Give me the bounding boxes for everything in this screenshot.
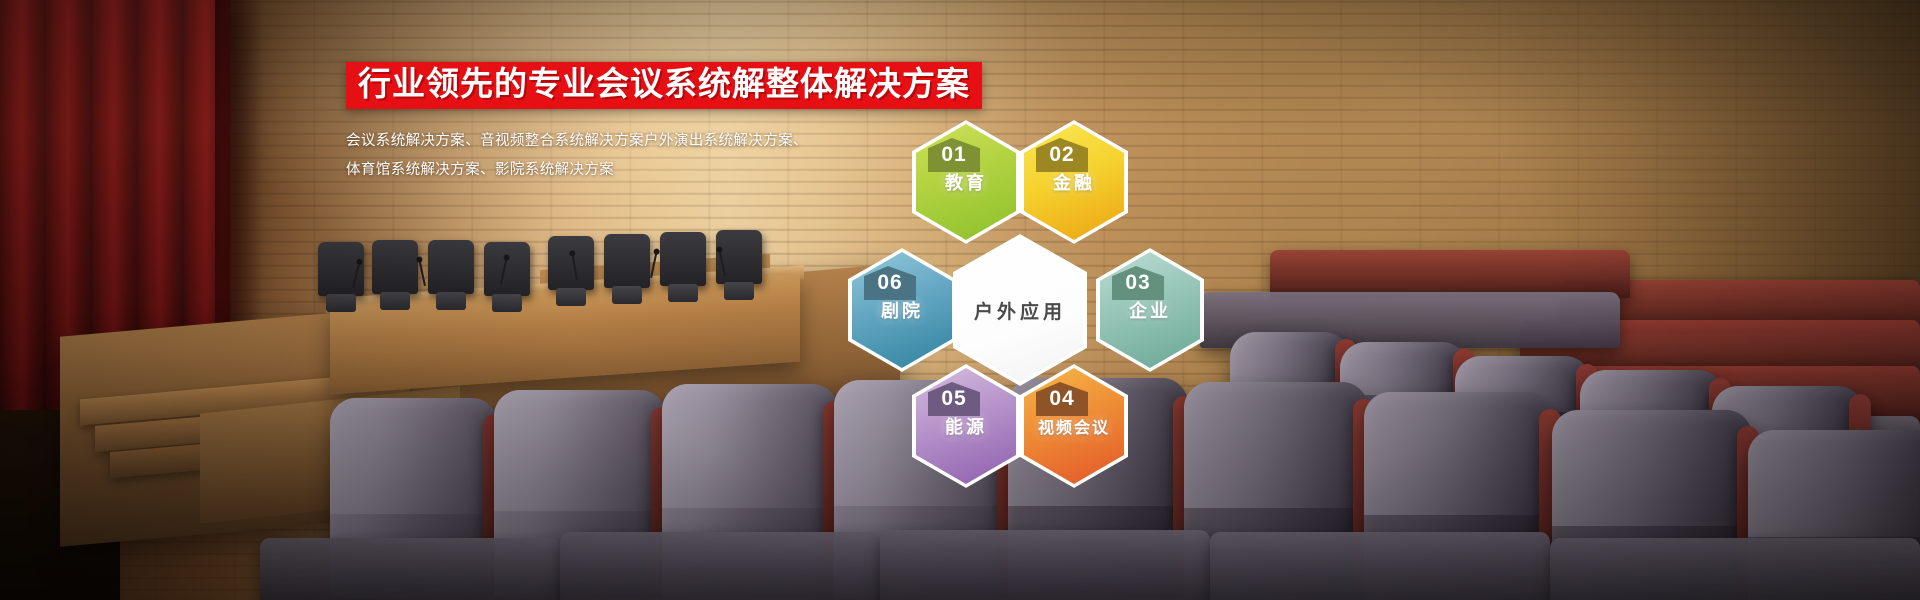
hex-label: 金融 — [1053, 169, 1095, 195]
hex-tile-enterprise[interactable]: 03 企业 — [1096, 248, 1204, 372]
hex-label: 企业 — [1129, 297, 1171, 323]
hex-tile-outdoor-application[interactable]: 户外应用 — [953, 234, 1087, 386]
seat-row — [1210, 532, 1550, 600]
hex-label: 户外应用 — [974, 297, 1066, 324]
hex-tile-education[interactable]: 01 教育 — [912, 120, 1020, 244]
seat-row — [260, 538, 560, 600]
hex-label: 剧院 — [881, 297, 923, 323]
seat-row — [1550, 538, 1920, 600]
seat-row — [1270, 250, 1630, 298]
hex-label: 教育 — [945, 169, 987, 195]
application-hex-cluster: 01 教育 02 金融 06 剧院 — [832, 100, 1252, 460]
hex-label: 能源 — [945, 413, 987, 439]
seat-row — [880, 530, 1210, 600]
page-title: 行业领先的专业会议系统解整体解决方案 — [358, 66, 970, 102]
banner-hero: 行业领先的专业会议系统解整体解决方案 会议系统解决方案、音视频整合系统解决方案户… — [0, 0, 1920, 600]
hex-tile-finance[interactable]: 02 金融 — [1020, 120, 1128, 244]
seat-row — [560, 532, 880, 600]
hex-tile-theater[interactable]: 06 剧院 — [848, 248, 956, 372]
hex-label: 视频会议 — [1038, 414, 1110, 438]
